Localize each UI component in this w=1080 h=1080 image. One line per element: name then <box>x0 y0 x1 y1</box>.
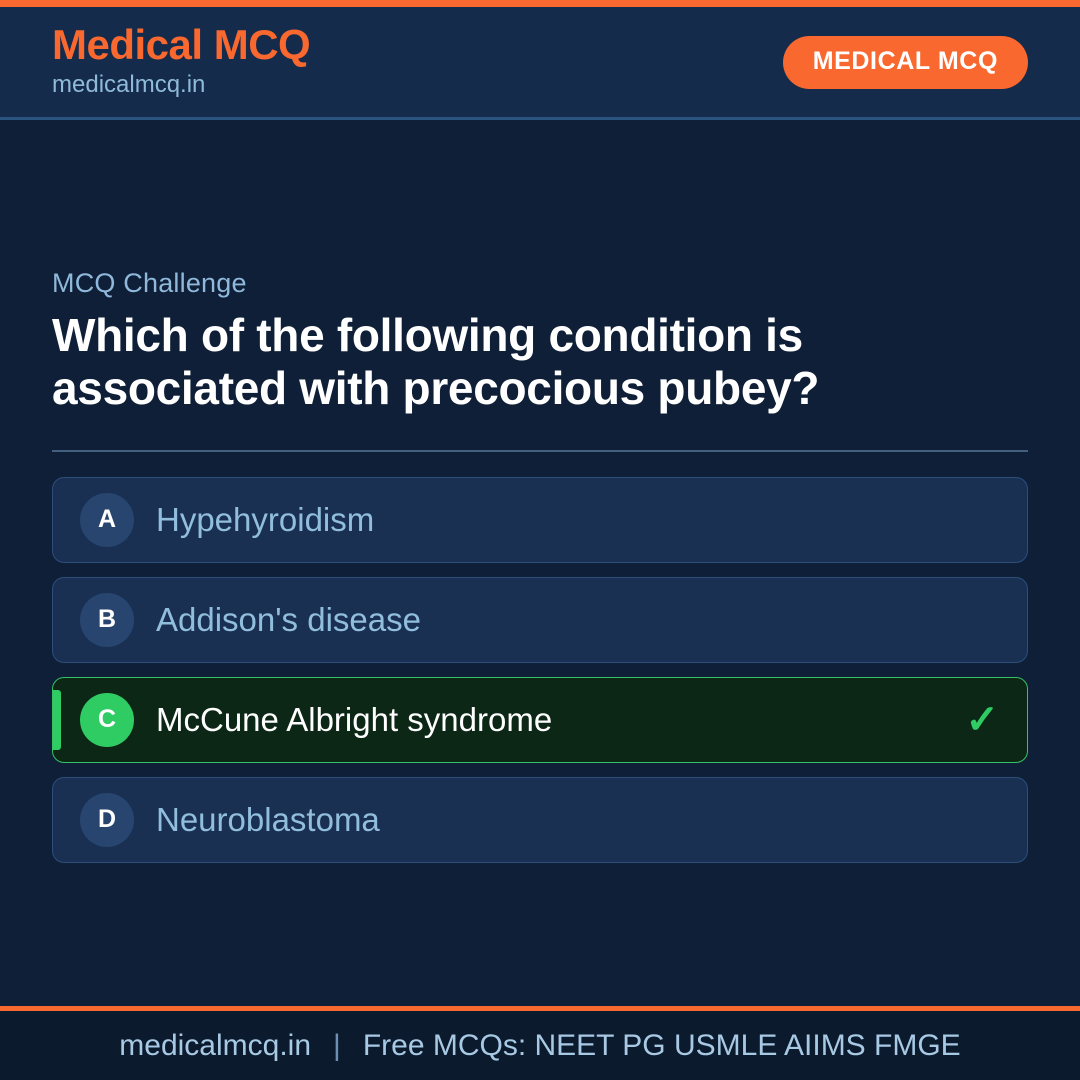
option-letter-badge: A <box>80 493 134 547</box>
option-label: McCune Albright syndrome <box>156 703 965 736</box>
option-label: Neuroblastoma <box>156 803 999 836</box>
option-row-d[interactable]: D Neuroblastoma ✓ <box>52 777 1028 863</box>
question-divider <box>52 450 1028 452</box>
option-label: Addison's disease <box>156 603 999 636</box>
options-list: A Hypehyroidism ✓ B Addison's disease ✓ … <box>52 477 1028 863</box>
option-row-c[interactable]: C McCune Albright syndrome ✓ <box>52 677 1028 763</box>
footer-inner: medicalmcq.in | Free MCQs: NEET PG USMLE… <box>119 1029 960 1063</box>
option-letter-badge: D <box>80 793 134 847</box>
option-letter-badge: B <box>80 593 134 647</box>
brand-block: Medical MCQ medicalmcq.in <box>52 23 310 101</box>
header: Medical MCQ medicalmcq.in MEDICAL MCQ <box>0 7 1080 120</box>
question-kicker: MCQ Challenge <box>52 268 1028 299</box>
brand-title: Medical MCQ <box>52 23 310 67</box>
option-label: Hypehyroidism <box>156 503 999 536</box>
footer-tags: Free MCQs: NEET PG USMLE AIIMS FMGE <box>363 1029 961 1063</box>
correct-accent-bar <box>53 690 61 750</box>
correct-check-icon: ✓ <box>965 700 999 740</box>
question-text: Which of the following condition is asso… <box>52 309 1012 416</box>
main-content: MCQ Challenge Which of the following con… <box>0 120 1080 1006</box>
option-row-b[interactable]: B Addison's disease ✓ <box>52 577 1028 663</box>
brand-subtitle: medicalmcq.in <box>52 69 310 101</box>
option-letter-badge: C <box>80 693 134 747</box>
option-row-a[interactable]: A Hypehyroidism ✓ <box>52 477 1028 563</box>
footer-site: medicalmcq.in <box>119 1029 311 1063</box>
footer: medicalmcq.in | Free MCQs: NEET PG USMLE… <box>0 1006 1080 1080</box>
mcq-card: Medical MCQ medicalmcq.in MEDICAL MCQ MC… <box>0 0 1080 1080</box>
top-accent-bar <box>0 0 1080 7</box>
header-badge: MEDICAL MCQ <box>783 36 1028 89</box>
footer-separator: | <box>333 1029 341 1063</box>
question-block: MCQ Challenge Which of the following con… <box>52 268 1028 452</box>
